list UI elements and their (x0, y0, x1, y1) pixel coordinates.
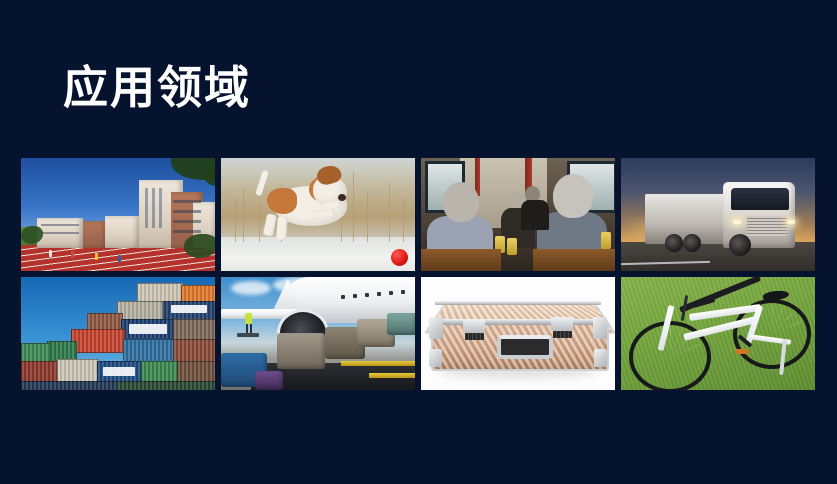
bicycle-scene (621, 277, 815, 390)
snow-ground (221, 237, 415, 271)
truck-wheel (665, 234, 683, 252)
suitcase (277, 333, 325, 369)
reed-grass (389, 182, 390, 242)
drink-glass (601, 232, 611, 249)
shipping-container (71, 329, 125, 353)
building-window (145, 188, 148, 228)
building-window (173, 220, 201, 223)
bench-right (533, 249, 615, 271)
shipping-container (173, 339, 215, 363)
reed-grass (367, 192, 368, 242)
drink-glass (507, 238, 517, 255)
suitcase (387, 313, 415, 335)
truck-windshield (731, 188, 789, 210)
briefcase-corner (429, 317, 443, 339)
truck-headlight (787, 220, 795, 224)
person-on-track (49, 250, 52, 257)
bicycle-pedal (735, 349, 749, 354)
airplane-window (389, 291, 393, 295)
briefcase-corner (429, 349, 442, 367)
briefcase-corner (594, 349, 607, 367)
suitcase (255, 371, 283, 390)
building-window (173, 200, 201, 203)
airplane-window (353, 294, 357, 298)
building-window (152, 188, 155, 228)
elderly-scene (421, 158, 615, 271)
shipping-container (117, 381, 215, 390)
container-brand-label (129, 324, 167, 334)
gallery-item-briefcase[interactable]: 箱包 / 铝合金密码箱 (421, 277, 615, 390)
mid-building-2 (105, 216, 139, 248)
reed-grass (259, 204, 260, 242)
briefcase-combination-dial-left[interactable] (465, 333, 484, 340)
person-on-track (95, 253, 98, 260)
building-window (41, 224, 79, 226)
building-window (173, 230, 201, 233)
container-brand-label (103, 367, 135, 376)
person-on-track (118, 255, 121, 262)
person-head-back-right (553, 174, 593, 218)
airport-baggage-scene (221, 277, 415, 390)
airplane-window (365, 293, 369, 297)
gallery-item-bicycle[interactable]: 出行 / 自行车 (621, 277, 815, 390)
reed-grass (243, 188, 244, 242)
page-title: 应用领域 (63, 58, 251, 118)
gallery-item-campus[interactable]: 校园 / 学校建筑与红色跑道 (21, 158, 215, 271)
gallery-item-pet-dog[interactable]: 宠物 / 奔跑的小狗 (221, 158, 415, 271)
truck-wheel (683, 234, 701, 252)
red-ball-watermark (391, 249, 408, 266)
shipping-container (123, 339, 175, 363)
presentation-slide: 应用领域 (0, 0, 837, 484)
pet-dog-scene (221, 158, 415, 271)
bench-left (421, 249, 501, 271)
container-brand-label (171, 305, 207, 313)
briefcase-frame-edge (431, 319, 605, 325)
reed-grass (353, 172, 354, 242)
gallery-item-truck[interactable]: 货运 / 长途卡车 (621, 158, 815, 271)
shipping-container (137, 283, 183, 303)
conveyor-rail (369, 373, 415, 378)
truck-headlight (733, 220, 741, 224)
shipping-container (173, 319, 215, 341)
person-head-back-left (443, 182, 479, 222)
image-gallery-grid: 校园 / 学校建筑与红色跑道 (21, 158, 816, 386)
briefcase-lock-left[interactable] (463, 319, 485, 333)
gallery-item-containers[interactable]: 物流 / 集装箱码头 (21, 277, 215, 390)
cloud (231, 281, 271, 295)
airplane-window (377, 292, 381, 296)
briefcase-scene (421, 277, 615, 390)
ladder (237, 333, 259, 337)
tree-shrub (184, 234, 215, 258)
building-window (173, 210, 201, 213)
briefcase-corner (593, 317, 607, 339)
shipping-container (117, 301, 163, 321)
briefcase-lid-edge (435, 301, 601, 305)
ground-crew-worker (245, 313, 252, 324)
briefcase-handle[interactable] (497, 335, 553, 359)
person-on-track (71, 251, 74, 258)
airplane-window (341, 295, 345, 299)
mid-building (83, 221, 107, 248)
dog-rear-leg (276, 216, 288, 241)
campus-scene (21, 158, 215, 271)
gallery-item-airport-baggage[interactable]: 航空 / 行李装卸 (221, 277, 415, 390)
airplane-window (401, 290, 405, 294)
truck-wheel (729, 234, 751, 256)
truck-grille (747, 216, 787, 236)
conveyor-rail (341, 361, 415, 366)
briefcase-lock-right[interactable] (551, 317, 573, 331)
briefcase-combination-dial-right[interactable] (553, 331, 572, 338)
gallery-item-elderly[interactable]: 老人 / 养老关怀 (421, 158, 615, 271)
reed-grass (235, 198, 236, 242)
person-torso-far (521, 200, 549, 230)
shipping-container (21, 381, 119, 390)
truck-scene (621, 158, 815, 271)
dog-coat-patch (267, 188, 297, 214)
containers-scene (21, 277, 215, 390)
reed-grass (403, 198, 404, 242)
building-window (41, 232, 79, 234)
building-window (159, 188, 162, 228)
